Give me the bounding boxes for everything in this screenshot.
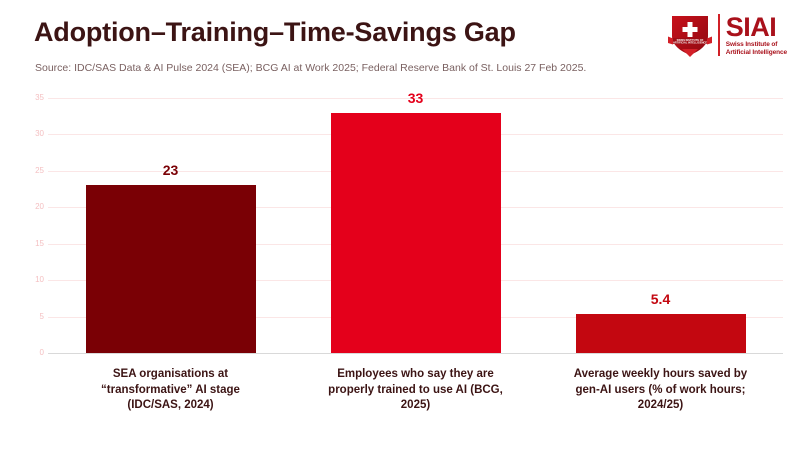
bar-value-label-1: 23 — [86, 163, 256, 177]
svg-text:ARTIFICIAL INTELLIGENCE: ARTIFICIAL INTELLIGENCE — [673, 41, 707, 45]
logo-divider — [718, 14, 720, 56]
logo-subtitle-line2: Artificial Intelligence — [726, 50, 787, 57]
y-tick-label-0: 0 — [22, 349, 44, 357]
x-axis-label-line: “transformative” AI stage — [46, 383, 296, 399]
logo-wordmark: SIAI Swiss Institute of Artificial Intel… — [726, 14, 787, 57]
x-axis-label-2: Employees who say they areproperly train… — [291, 367, 541, 414]
x-axis-label-3: Average weekly hours saved bygen-AI user… — [536, 367, 786, 414]
bar-2[interactable] — [331, 113, 501, 353]
logo-subtitle-line1: Swiss Institute of — [726, 42, 787, 49]
y-tick-label-35: 35 — [22, 94, 44, 102]
y-tick-label-10: 10 — [22, 276, 44, 284]
page-title: Adoption–Training–Time-Savings Gap — [34, 17, 516, 48]
bar-chart: 05101520253035 23335.4 SEA organisations… — [0, 88, 800, 450]
x-axis-label-line: (IDC/SAS, 2024) — [46, 398, 296, 414]
slide-header: Adoption–Training–Time-Savings Gap Sourc… — [0, 0, 800, 88]
source-note: Source: IDC/SAS Data & AI Pulse 2024 (SE… — [35, 62, 586, 74]
bar-1[interactable] — [86, 185, 256, 353]
x-axis-label-1: SEA organisations at“transformative” AI … — [46, 367, 296, 414]
x-axis-label-line: Average weekly hours saved by — [536, 367, 786, 383]
x-axis-label-line: properly trained to use AI (BCG, — [291, 383, 541, 399]
x-axis-label-line: SEA organisations at — [46, 367, 296, 383]
y-tick-label-5: 5 — [22, 313, 44, 321]
bar-value-label-2: 33 — [331, 91, 501, 105]
x-axis-label-line: 2024/25) — [536, 398, 786, 414]
x-axis-label-line: Employees who say they are — [291, 367, 541, 383]
y-tick-label-20: 20 — [22, 203, 44, 211]
bar-value-label-3: 5.4 — [576, 292, 746, 306]
gridline-0 — [48, 353, 783, 354]
x-axis-label-line: 2025) — [291, 398, 541, 414]
x-axis-label-line: gen-AI users (% of work hours; — [536, 383, 786, 399]
y-tick-label-30: 30 — [22, 130, 44, 138]
swiss-shield-icon: SWISS INSTITUTE OF ARTIFICIAL INTELLIGEN… — [668, 12, 712, 58]
bar-3[interactable] — [576, 314, 746, 353]
y-tick-label-25: 25 — [22, 167, 44, 175]
slide-canvas: Adoption–Training–Time-Savings Gap Sourc… — [0, 0, 800, 450]
siai-logo: SWISS INSTITUTE OF ARTIFICIAL INTELLIGEN… — [668, 11, 787, 59]
y-tick-label-15: 15 — [22, 240, 44, 248]
logo-brand-name: SIAI — [726, 14, 787, 41]
